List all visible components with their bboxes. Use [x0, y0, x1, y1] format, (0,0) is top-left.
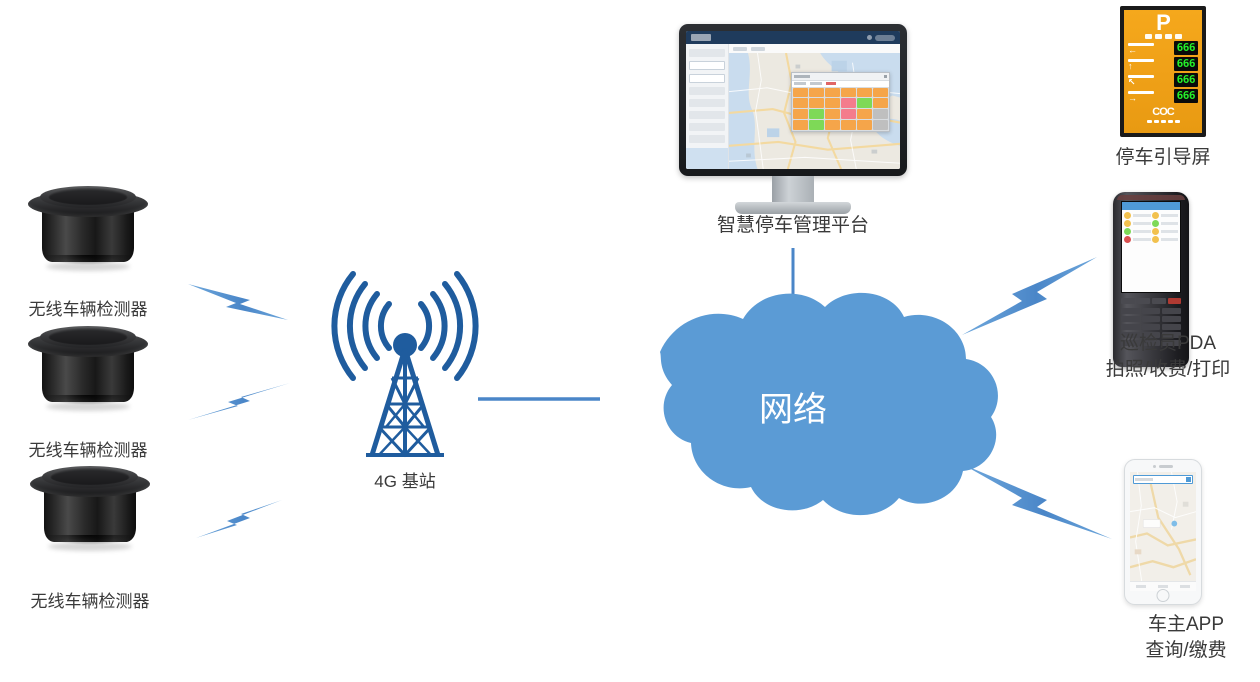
pda-key[interactable]: [1152, 298, 1166, 304]
sign-row: ↑666: [1128, 57, 1198, 71]
pda-status-icon: [1124, 236, 1131, 243]
phone-search-bar[interactable]: [1133, 475, 1193, 484]
popup-titlebar: [792, 73, 889, 81]
sign-direction-arrow-icon: ↖: [1128, 79, 1136, 86]
pda-menu-label: [1161, 222, 1179, 225]
toolbar-breadcrumb: [751, 47, 765, 51]
sign-row: →666: [1128, 89, 1198, 103]
pda-menu-label: [1133, 222, 1151, 225]
ground-sensor-icon-3: [30, 462, 150, 547]
pda-menu-label: [1133, 214, 1151, 217]
pda-screen-titlebar: [1122, 202, 1180, 210]
parking-slot-cell[interactable]: [809, 88, 824, 98]
sign-header-glyph: [1165, 34, 1172, 39]
app-label-line2: 查询/缴费: [1145, 638, 1226, 665]
sensor-shadow: [48, 542, 132, 551]
sign-footer: [1147, 120, 1180, 123]
search-icon[interactable]: [1186, 477, 1191, 482]
sign-panel: P ←666↑666↖666→666 COC: [1124, 10, 1202, 133]
dashboard-header-bar: [686, 31, 900, 44]
popup-close-icon[interactable]: [884, 75, 887, 78]
sign-available-count: 666: [1174, 73, 1198, 87]
pda-power-key[interactable]: [1168, 298, 1182, 304]
base-station-label: 4G 基站: [374, 470, 435, 494]
parking-slot-cell[interactable]: [873, 120, 888, 130]
sign-frame: P ←666↑666↖666→666 COC: [1120, 6, 1206, 137]
parking-slot-cell[interactable]: [809, 109, 824, 119]
pda-menu-label: [1133, 238, 1151, 241]
pda-keypad-key[interactable]: [1121, 316, 1140, 322]
pda-keypad-key[interactable]: [1162, 324, 1181, 330]
phone-search-placeholder: [1135, 478, 1153, 481]
sign-available-count: 666: [1174, 57, 1198, 71]
pda-screen[interactable]: [1121, 201, 1181, 293]
sign-row-list: ←666↑666↖666→666: [1128, 41, 1198, 103]
dashboard-logo: [691, 34, 711, 41]
network-label: 网络: [759, 390, 827, 430]
phone-speaker: [1153, 465, 1173, 468]
parking-slot-cell[interactable]: [793, 109, 808, 119]
sign-header-label: [1145, 34, 1182, 39]
parking-slot-cell[interactable]: [825, 120, 840, 130]
phone-home-button[interactable]: [1157, 589, 1170, 602]
sensor-1-label: 无线车辆检测器: [29, 298, 148, 322]
sign-zone-label: →: [1128, 91, 1154, 102]
parking-slot-cell[interactable]: [825, 98, 840, 108]
diagram-canvas: 网络: [0, 0, 1260, 682]
sign-header-glyph: [1145, 34, 1152, 39]
sign-direction-arrow-icon: ↑: [1128, 63, 1133, 70]
pda-keypad-key[interactable]: [1142, 316, 1161, 322]
sidebar-item[interactable]: [689, 111, 725, 119]
pda-menu-item[interactable]: [1124, 212, 1151, 219]
phone-earpiece: [1159, 465, 1173, 468]
pda-status-icon: [1124, 228, 1131, 235]
phone-map-graphic: [1130, 472, 1196, 591]
pda-function-keys[interactable]: [1121, 298, 1181, 304]
monitor-bezel: [679, 24, 907, 176]
parking-slot-cell[interactable]: [793, 88, 808, 98]
sidebar-item[interactable]: [689, 87, 725, 95]
dashboard-main: [729, 44, 900, 169]
notification-icon[interactable]: [867, 35, 872, 40]
pda-status-icon: [1152, 220, 1159, 227]
pda-keypad-key[interactable]: [1162, 308, 1181, 314]
monitor-neck: [772, 176, 814, 202]
pda-key[interactable]: [1137, 298, 1151, 304]
pda-status-icon: [1152, 228, 1159, 235]
pda-menu-item[interactable]: [1152, 220, 1179, 227]
sensor-cap-inner: [48, 328, 128, 345]
sensor-cap-inner: [50, 468, 130, 485]
sign-footer-glyph: [1168, 120, 1173, 123]
sign-available-count: 666: [1174, 89, 1198, 103]
parking-slot-cell[interactable]: [825, 88, 840, 98]
pda-menu-item[interactable]: [1152, 212, 1179, 219]
ground-sensor-icon-1: [28, 182, 148, 267]
pda-menu-item[interactable]: [1124, 236, 1151, 243]
pda-keypad-key[interactable]: [1142, 324, 1161, 330]
pda-status-icon: [1124, 212, 1131, 219]
toolbar-breadcrumb: [733, 47, 747, 51]
sensor-cap-inner: [48, 188, 128, 205]
guidance-sign-label: 停车引导屏: [1115, 145, 1210, 172]
phone-tab-item[interactable]: [1158, 585, 1168, 588]
bolt-sensor3-to-tower: [196, 500, 282, 538]
parking-slot-grid: [792, 87, 889, 132]
sensor-shadow: [46, 402, 130, 411]
pda-label-line1: 巡检员PDA: [1120, 331, 1216, 358]
phone-screen[interactable]: [1130, 472, 1196, 591]
parking-slot-cell[interactable]: [841, 98, 856, 108]
popup-filter-chip[interactable]: [810, 82, 822, 85]
slot-status-popup[interactable]: [791, 72, 890, 133]
parking-slot-cell[interactable]: [857, 109, 872, 119]
bolt-cloud-to-pda: [962, 257, 1097, 335]
led-parking-sign-icon: P ←666↑666↖666→666 COC: [1120, 6, 1206, 137]
cell-tower-icon: [334, 274, 475, 378]
phone-shell: [1124, 459, 1202, 605]
phone-tab-item[interactable]: [1136, 585, 1146, 588]
parking-slot-cell[interactable]: [841, 109, 856, 119]
sign-direction-arrow-icon: ←: [1128, 47, 1137, 54]
sign-row: ↖666: [1128, 73, 1198, 87]
popup-title-text: [794, 75, 810, 78]
pda-menu-grid: [1122, 210, 1180, 245]
pda-status-icon: [1152, 236, 1159, 243]
parking-slot-cell[interactable]: [857, 88, 872, 98]
phone-camera-dot: [1153, 465, 1156, 468]
sidebar-filler: [686, 148, 728, 169]
sign-p-symbol: P: [1156, 13, 1170, 33]
sign-header-glyph: [1175, 34, 1182, 39]
parking-slot-cell[interactable]: [841, 120, 856, 130]
phone-tab-item[interactable]: [1180, 585, 1190, 588]
sign-zone-label: ↑: [1128, 59, 1154, 70]
parking-slot-cell[interactable]: [825, 109, 840, 119]
parking-slot-cell[interactable]: [841, 88, 856, 98]
sign-row: ←666: [1128, 41, 1198, 55]
parking-slot-cell[interactable]: [857, 98, 872, 108]
user-account-chip[interactable]: [875, 35, 895, 41]
bolt-sensor1-to-tower: [188, 284, 288, 320]
smartphone-icon: [1124, 459, 1202, 605]
sensor-3-label: 无线车辆检测器: [31, 590, 150, 614]
sidebar-item[interactable]: [689, 99, 725, 107]
parking-slot-cell[interactable]: [793, 98, 808, 108]
sign-direction-arrow-icon: →: [1128, 95, 1137, 102]
sidebar-item[interactable]: [689, 61, 725, 70]
sidebar-item[interactable]: [689, 74, 725, 83]
sign-footer-glyph: [1154, 120, 1159, 123]
sign-brand: COC: [1152, 106, 1173, 118]
pda-menu-item[interactable]: [1152, 228, 1179, 235]
sign-footer-glyph: [1161, 120, 1166, 123]
pda-menu-label: [1133, 230, 1151, 233]
cell-tower-mast: [366, 333, 444, 455]
dashboard-header-actions: [867, 35, 895, 41]
ground-sensor-icon-2: [28, 322, 148, 407]
parking-dashboard: [686, 31, 900, 169]
dashboard-sidebar: [686, 44, 729, 169]
popup-filter-chip[interactable]: [794, 82, 806, 85]
sidebar-item[interactable]: [689, 135, 725, 143]
parking-slot-cell[interactable]: [809, 98, 824, 108]
platform-label: 智慧停车管理平台: [717, 213, 869, 240]
sign-header-glyph: [1155, 34, 1162, 39]
parking-slot-cell[interactable]: [873, 98, 888, 108]
app-label-line1: 车主APP: [1148, 612, 1224, 639]
pda-keypad-key[interactable]: [1121, 308, 1140, 314]
pda-menu-item[interactable]: [1124, 228, 1151, 235]
sidebar-item[interactable]: [689, 123, 725, 131]
sensor-shadow: [46, 262, 130, 271]
sidebar-item[interactable]: [689, 49, 725, 57]
pda-menu-label: [1161, 230, 1179, 233]
pda-key[interactable]: [1121, 298, 1135, 304]
bolt-cloud-to-app: [962, 464, 1112, 539]
sign-zone-label: ↖: [1128, 75, 1154, 86]
sign-zone-label: ←: [1128, 43, 1154, 54]
network-cloud-icon: 网络: [660, 293, 998, 515]
pda-menu-item[interactable]: [1152, 236, 1179, 243]
pda-status-icon: [1152, 212, 1159, 219]
sensor-2-label: 无线车辆检测器: [29, 439, 148, 463]
parking-slot-cell[interactable]: [873, 109, 888, 119]
pda-menu-label: [1161, 214, 1179, 217]
popup-alert-text: [826, 82, 836, 85]
pda-label-line2: 拍照/收费/打印: [1106, 357, 1231, 384]
pda-keypad-key[interactable]: [1121, 324, 1140, 330]
parking-slot-cell[interactable]: [873, 88, 888, 98]
pda-status-icon: [1124, 220, 1131, 227]
parking-slot-cell[interactable]: [809, 120, 824, 130]
pda-menu-item[interactable]: [1124, 220, 1151, 227]
sign-available-count: 666: [1174, 41, 1198, 55]
dashboard-body: [686, 44, 900, 169]
parking-slot-cell[interactable]: [857, 120, 872, 130]
pda-keypad-key[interactable]: [1162, 316, 1181, 322]
connector-layer: 网络: [0, 0, 1260, 682]
bolt-sensor2-to-tower: [188, 383, 290, 420]
monitor-screen: [686, 31, 900, 169]
parking-slot-cell[interactable]: [793, 120, 808, 130]
pda-menu-label: [1161, 238, 1179, 241]
sign-footer-glyph: [1175, 120, 1180, 123]
sign-footer-glyph: [1147, 120, 1152, 123]
pda-keypad-key[interactable]: [1142, 308, 1161, 314]
